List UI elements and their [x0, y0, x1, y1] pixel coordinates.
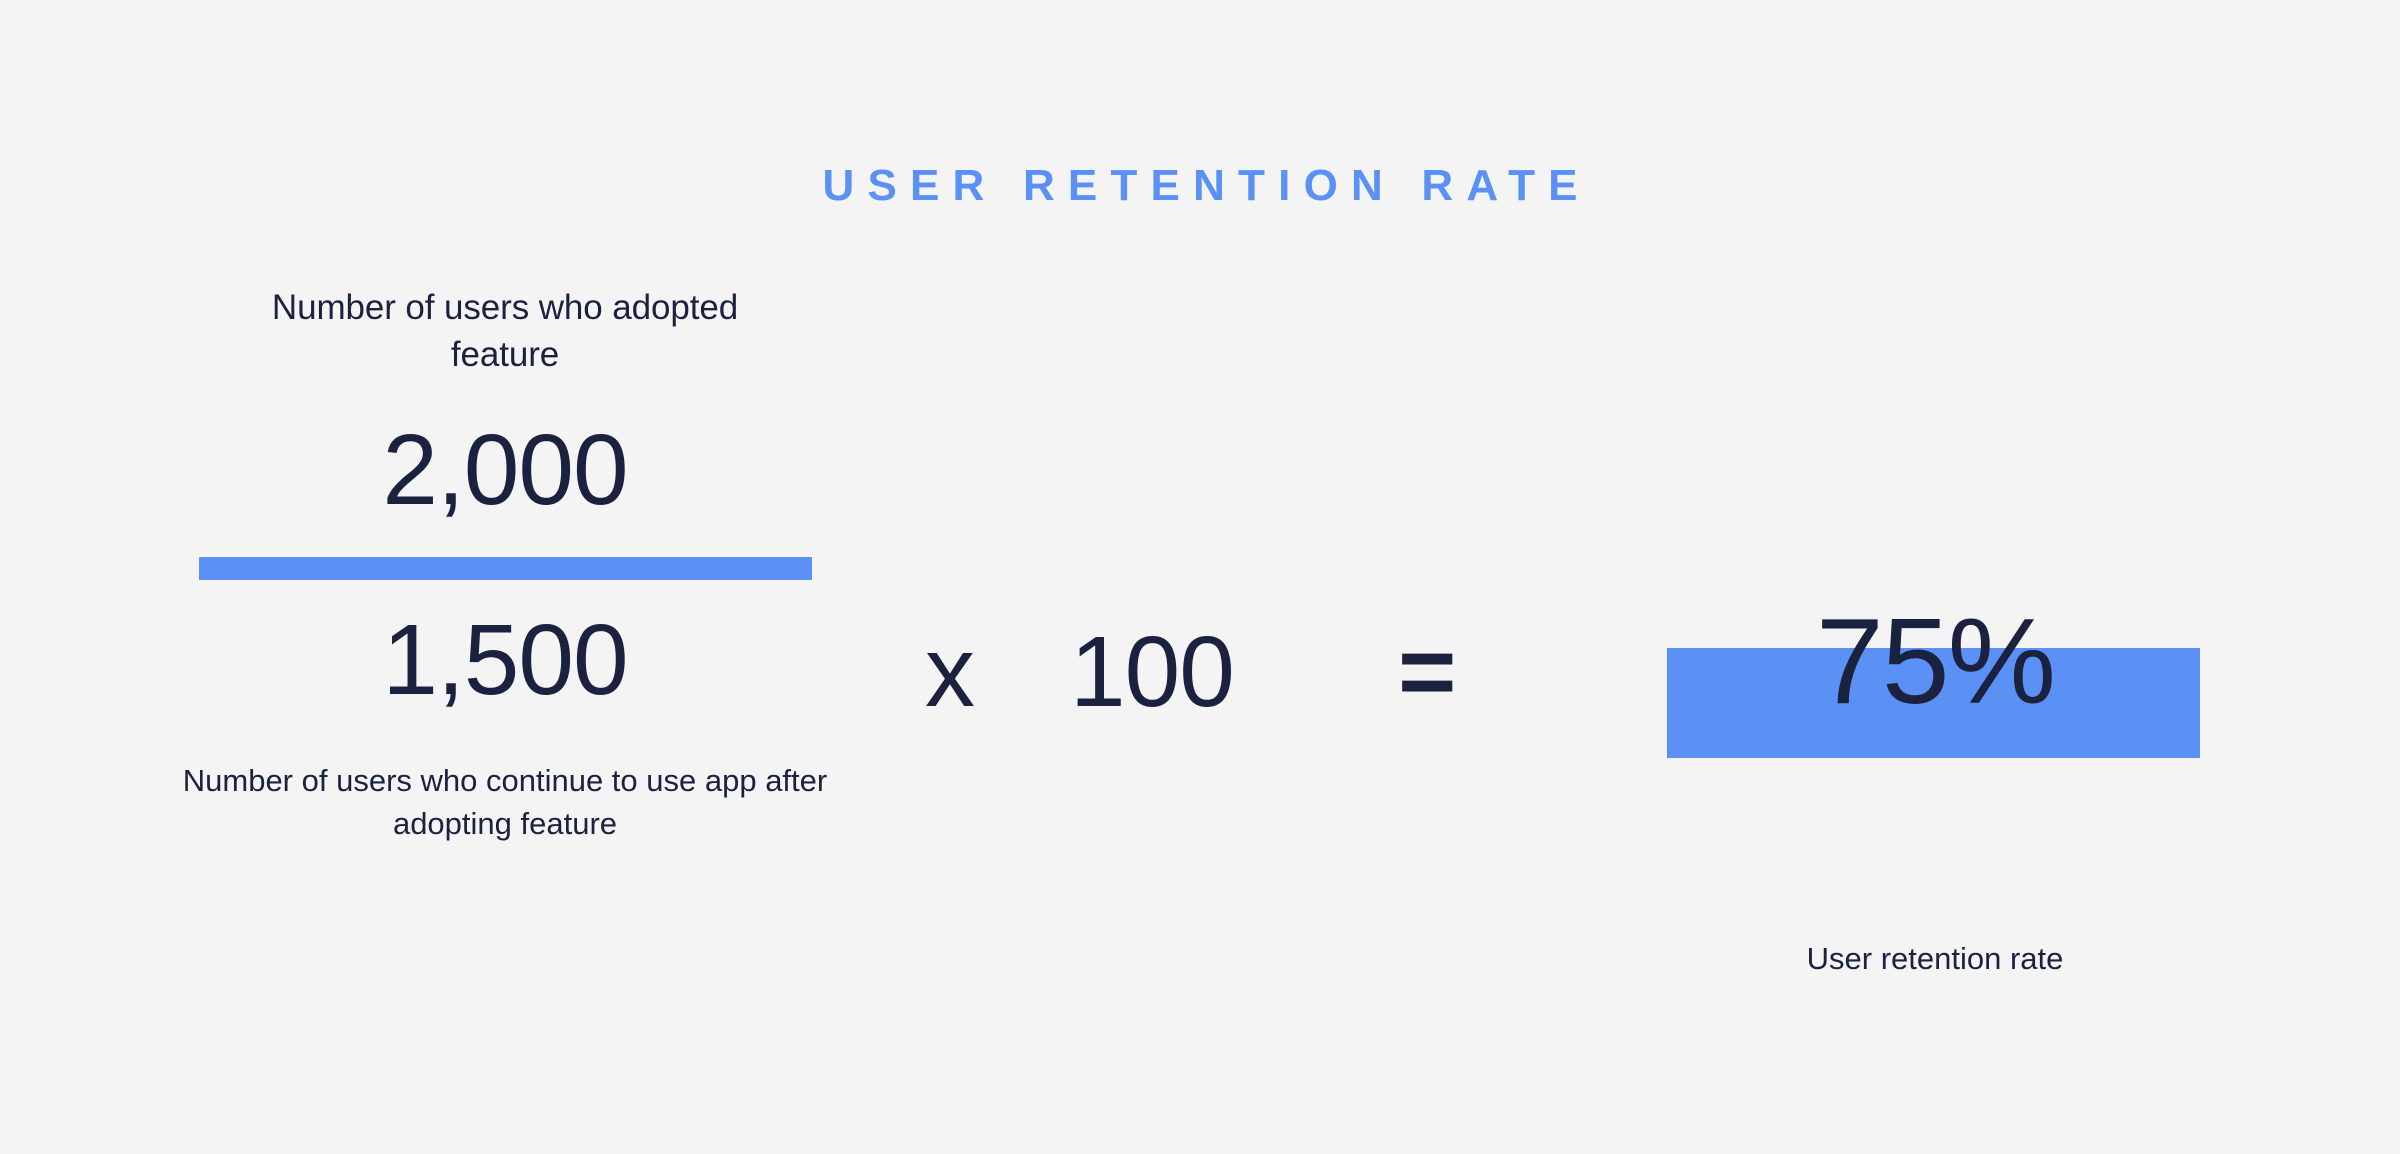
denominator-label: Number of users who continue to use app … — [155, 760, 855, 846]
fraction-divider-bar — [199, 557, 812, 580]
result-highlight-wrap: 75% — [1630, 600, 2240, 820]
numerator-label: Number of users who adopted feature — [270, 285, 740, 378]
fraction-group: Number of users who adopted feature 2,00… — [150, 285, 860, 846]
infographic-canvas: USER RETENTION RATE Number of users who … — [0, 0, 2400, 1154]
formula-container: Number of users who adopted feature 2,00… — [0, 0, 2400, 1154]
denominator-value: 1,500 — [150, 610, 860, 718]
equals-operator: = — [1398, 622, 1455, 722]
result-value: 75% — [1630, 600, 2240, 722]
result-caption: User retention rate — [1630, 938, 2240, 980]
result-group: 75% User retention rate — [1630, 600, 2240, 820]
multiply-operator: x — [925, 622, 974, 722]
numerator-value: 2,000 — [150, 420, 860, 528]
multiplier-value: 100 — [1070, 622, 1234, 722]
